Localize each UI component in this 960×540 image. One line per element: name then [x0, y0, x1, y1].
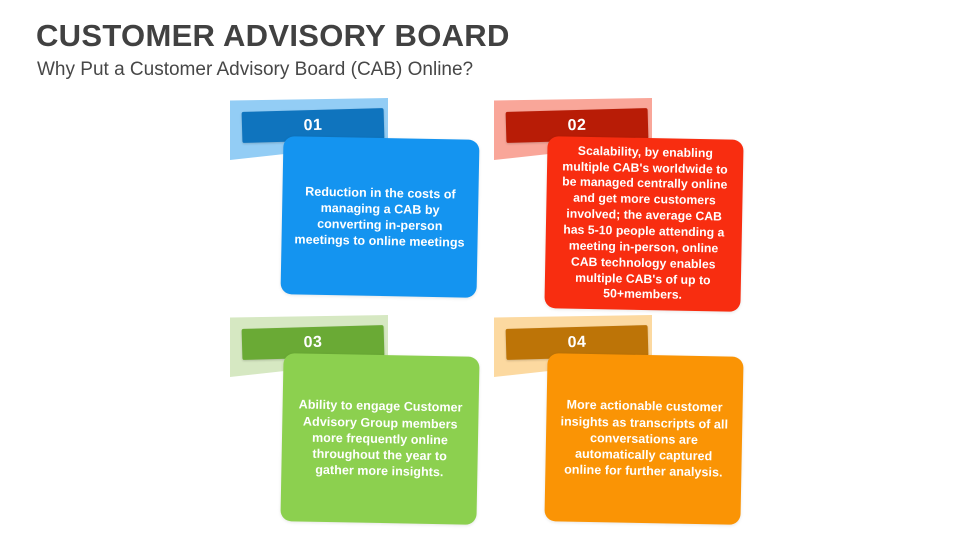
card-text: Reduction in the costs of managing a CAB…	[292, 183, 467, 251]
page-title: CUSTOMER ADVISORY BOARD	[36, 18, 510, 54]
card-text: Scalability, by enabling multiple CAB's …	[555, 143, 732, 305]
card-number-label: 03	[303, 334, 322, 351]
card-body[interactable]: Ability to engage Customer Advisory Grou…	[280, 353, 479, 525]
card-number-label: 02	[567, 117, 586, 134]
card-number-label: 04	[567, 334, 586, 351]
slide-canvas: CUSTOMER ADVISORY BOARD Why Put a Custom…	[0, 0, 960, 540]
page-subtitle: Why Put a Customer Advisory Board (CAB) …	[37, 59, 473, 81]
card-03[interactable]: 03 Ability to engage Customer Advisory G…	[228, 315, 498, 520]
card-body[interactable]: More actionable customer insights as tra…	[544, 353, 743, 525]
card-body[interactable]: Reduction in the costs of managing a CAB…	[281, 136, 480, 298]
card-number-label: 01	[303, 117, 322, 134]
card-text: Ability to engage Customer Advisory Grou…	[292, 397, 468, 482]
card-01[interactable]: 01 Reduction in the costs of managing a …	[228, 98, 498, 313]
card-body[interactable]: Scalability, by enabling multiple CAB's …	[544, 136, 743, 312]
card-04[interactable]: 04 More actionable customer insights as …	[492, 315, 762, 520]
card-text: More actionable customer insights as tra…	[556, 397, 732, 482]
card-02[interactable]: 02 Scalability, by enabling multiple CAB…	[492, 98, 762, 323]
